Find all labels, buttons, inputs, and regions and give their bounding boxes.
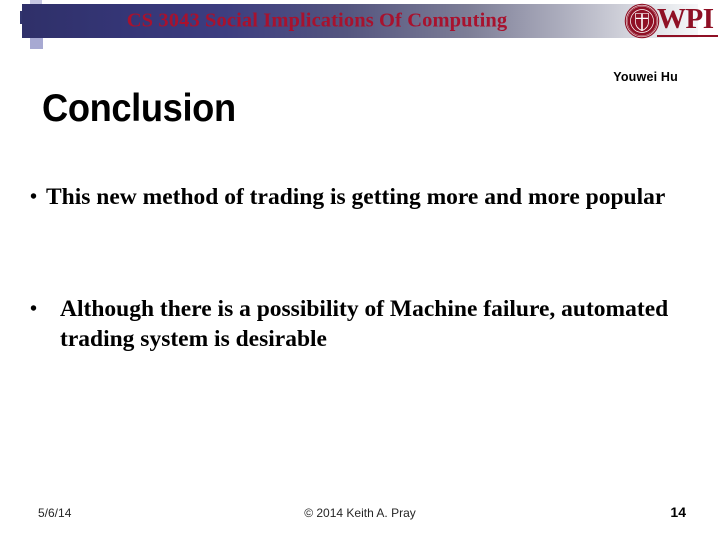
bullet-icon: • xyxy=(30,294,60,324)
page-title: Conclusion xyxy=(42,86,236,132)
bullet-list: • This new method of trading is getting … xyxy=(30,182,690,354)
decor-fade-left xyxy=(0,0,20,52)
wpi-wordmark: WPI xyxy=(657,4,714,34)
list-item-text: Although there is a possibility of Machi… xyxy=(60,294,690,354)
list-item: • Although there is a possibility of Mac… xyxy=(30,294,690,354)
wpi-seal-icon xyxy=(624,3,660,39)
footer-copyright: © 2014 Keith A. Pray xyxy=(0,506,720,520)
course-title: CS 3043 Social Implications Of Computing xyxy=(22,10,698,33)
header-banner-bar: CS 3043 Social Implications Of Computing xyxy=(22,4,698,38)
slide-canvas: CS 3043 Social Implications Of Computing… xyxy=(0,0,720,540)
footer-page-number: 14 xyxy=(670,504,686,520)
list-item: • This new method of trading is getting … xyxy=(30,182,690,212)
slide-footer: 5/6/14 © 2014 Keith A. Pray 14 xyxy=(0,506,720,526)
list-item-text: This new method of trading is getting mo… xyxy=(46,182,690,212)
bullet-icon: • xyxy=(30,182,46,212)
wpi-underline-rule xyxy=(657,35,718,37)
slide-header: CS 3043 Social Implications Of Computing… xyxy=(0,0,720,52)
author-name: Youwei Hu xyxy=(613,70,678,84)
wpi-logo: WPI xyxy=(624,1,718,41)
